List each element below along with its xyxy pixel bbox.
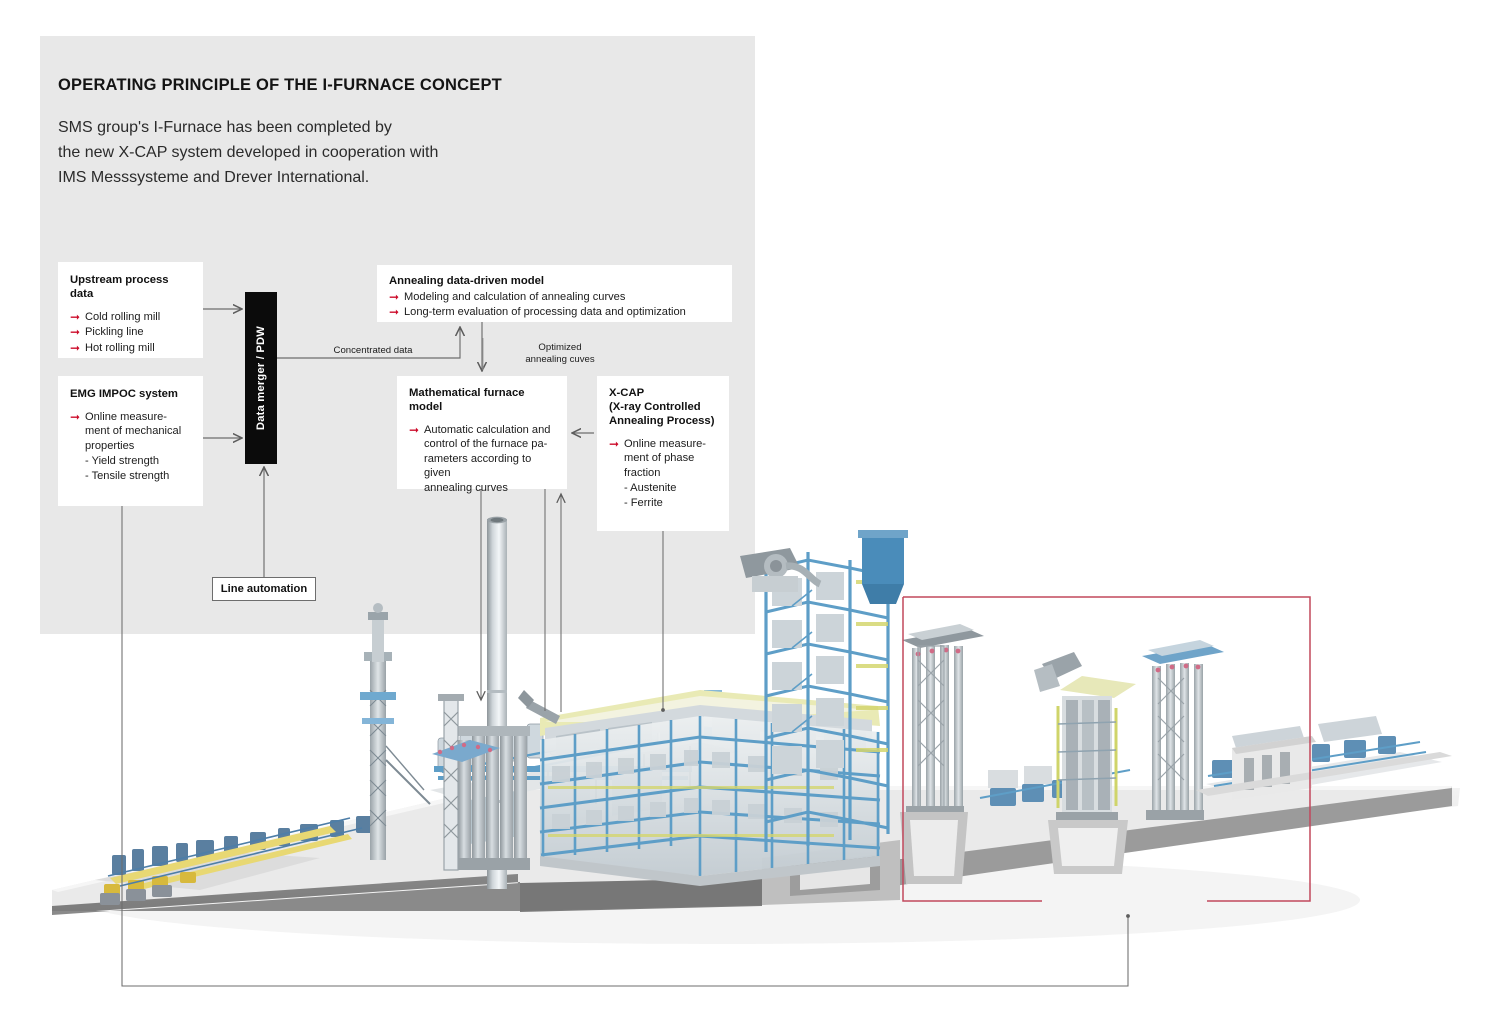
bullet-item: ➞Hot rolling mill: [70, 341, 193, 355]
bullet-list: ➞Online measure- ment of phase fraction …: [609, 437, 721, 510]
bullet-item: ➞Long-term evaluation of processing data…: [389, 305, 722, 319]
bullet-text: Modeling and calculation of annealing cu…: [404, 291, 625, 303]
bullet-text: Online measure- ment of phase fraction: [624, 438, 706, 479]
box-annealing-data-driven-model: Annealing data-driven model ➞Modeling an…: [377, 265, 732, 322]
arrow-icon: ➞: [389, 290, 399, 304]
bullet-list: ➞Automatic calculation and control of th…: [409, 423, 557, 495]
data-merger-label: Data merger / PDW: [255, 326, 267, 430]
box-mathematical-furnace-model: Mathematical furnace model ➞Automatic ca…: [397, 376, 567, 489]
page-title: OPERATING PRINCIPLE OF THE I-FURNACE CON…: [58, 76, 718, 95]
sub-item: - Tensile strength: [70, 469, 193, 483]
bullet-item: ➞Online measure- ment of phase fraction: [609, 437, 721, 480]
bullet-text: Automatic calculation and control of the…: [424, 424, 550, 494]
bullet-text: Pickling line: [85, 326, 144, 338]
bullet-text: Long-term evaluation of processing data …: [404, 306, 686, 318]
bullet-list: ➞Online measure- ment of mechanical prop…: [70, 410, 193, 483]
box-emg-impoc-system: EMG IMPOC system ➞Online measure- ment o…: [58, 376, 203, 506]
box-x-cap: X-CAP (X-ray Controlled Annealing Proces…: [597, 376, 729, 531]
bullet-item: ➞Online measure- ment of mechanical prop…: [70, 410, 193, 453]
box-title: Mathematical furnace model: [409, 386, 557, 414]
diagram-canvas: OPERATING PRINCIPLE OF THE I-FURNACE CON…: [0, 0, 1500, 1023]
box-title: Annealing data-driven model: [389, 274, 722, 288]
sub-item: - Ferrite: [609, 496, 721, 510]
arrow-icon: ➞: [70, 341, 80, 355]
arrow-icon: ➞: [609, 437, 619, 451]
box-title: EMG IMPOC system: [70, 387, 193, 401]
bullet-item: ➞Pickling line: [70, 325, 193, 339]
bullet-text: Online measure- ment of mechanical prope…: [85, 411, 181, 452]
box-title: X-CAP (X-ray Controlled Annealing Proces…: [609, 386, 721, 428]
bullet-item: ➞Cold rolling mill: [70, 310, 193, 324]
box-upstream-process-data: Upstream process data ➞Cold rolling mill…: [58, 262, 203, 358]
bullet-list: ➞Modeling and calculation of annealing c…: [389, 290, 722, 320]
bullet-item: ➞Automatic calculation and control of th…: [409, 423, 557, 495]
callout-post-treatment-area: Post-treatment area: [1042, 888, 1207, 914]
box-data-merger-pdw: Data merger / PDW: [245, 292, 277, 464]
sub-item: - Yield strength: [70, 454, 193, 468]
bullet-list: ➞Cold rolling mill ➞Pickling line ➞Hot r…: [70, 310, 193, 355]
edge-label-optimized-annealing-curves: Optimized annealing cuves: [515, 342, 605, 365]
arrow-icon: ➞: [70, 410, 80, 424]
arrow-icon: ➞: [70, 310, 80, 324]
box-title: Upstream process data: [70, 273, 193, 301]
bullet-item: ➞Modeling and calculation of annealing c…: [389, 290, 722, 304]
edge-label-concentrated-data: Concentrated data: [318, 345, 428, 357]
arrow-icon: ➞: [389, 305, 399, 319]
arrow-icon: ➞: [409, 423, 419, 437]
box-line-automation: Line automation: [212, 577, 316, 601]
bullet-text: Hot rolling mill: [85, 342, 155, 354]
panel-subtitle: SMS group's I-Furnace has been completed…: [58, 115, 718, 190]
arrow-icon: ➞: [70, 325, 80, 339]
bullet-text: Cold rolling mill: [85, 311, 160, 323]
sub-item: - Austenite: [609, 481, 721, 495]
